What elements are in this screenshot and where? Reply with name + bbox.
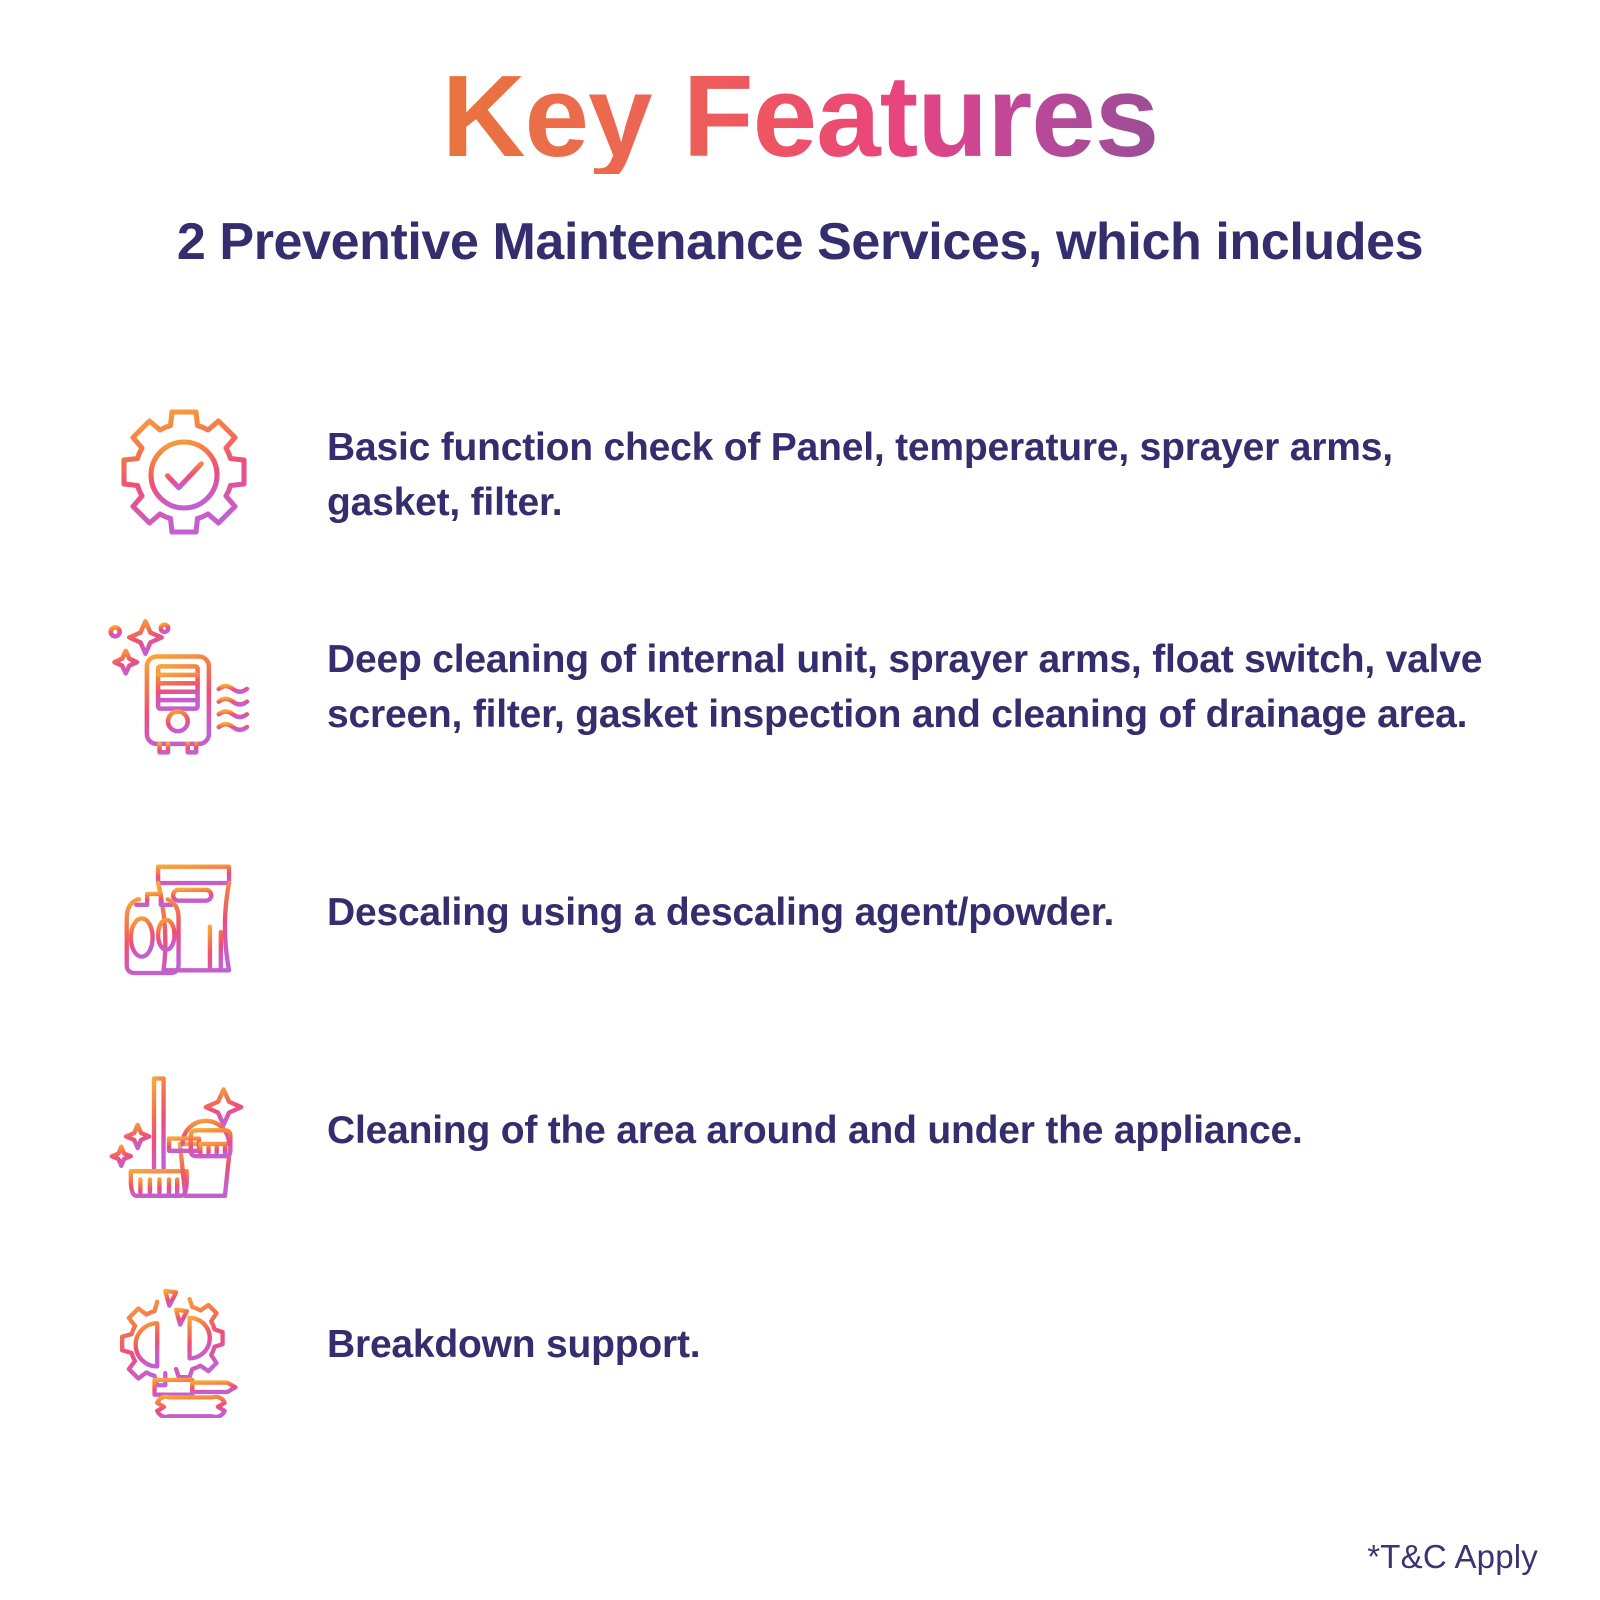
- broom-bucket-icon: [96, 1051, 271, 1211]
- broken-gear-tools-icon: [96, 1265, 271, 1425]
- page-header: Key Features 2 Preventive Maintenance Se…: [0, 0, 1600, 272]
- page-subtitle: 2 Preventive Maintenance Services, which…: [0, 212, 1600, 272]
- feature-label: Basic function check of Panel, temperatu…: [327, 420, 1530, 531]
- gear-check-icon: [96, 395, 271, 555]
- appliance-sparkle-icon: [96, 607, 271, 767]
- list-item: Basic function check of Panel, temperatu…: [0, 380, 1600, 570]
- list-item: Deep cleaning of internal unit, sprayer …: [0, 592, 1600, 782]
- list-item: Breakdown support.: [0, 1250, 1600, 1440]
- list-item: Descaling using a descaling agent/powder…: [0, 818, 1600, 1008]
- feature-list: Basic function check of Panel, temperatu…: [0, 380, 1600, 1440]
- page-title: Key Features: [442, 58, 1159, 174]
- terms-conditions-note: *T&C Apply: [1367, 1538, 1538, 1576]
- feature-label: Deep cleaning of internal unit, sprayer …: [327, 632, 1530, 743]
- key-features-page: Key Features 2 Preventive Maintenance Se…: [0, 0, 1600, 1600]
- feature-label: Breakdown support.: [327, 1317, 1530, 1372]
- feature-label: Cleaning of the area around and under th…: [327, 1103, 1530, 1158]
- feature-label: Descaling using a descaling agent/powder…: [327, 885, 1530, 940]
- list-item: Cleaning of the area around and under th…: [0, 1036, 1600, 1226]
- detergent-bottle-powder-icon: [96, 833, 271, 993]
